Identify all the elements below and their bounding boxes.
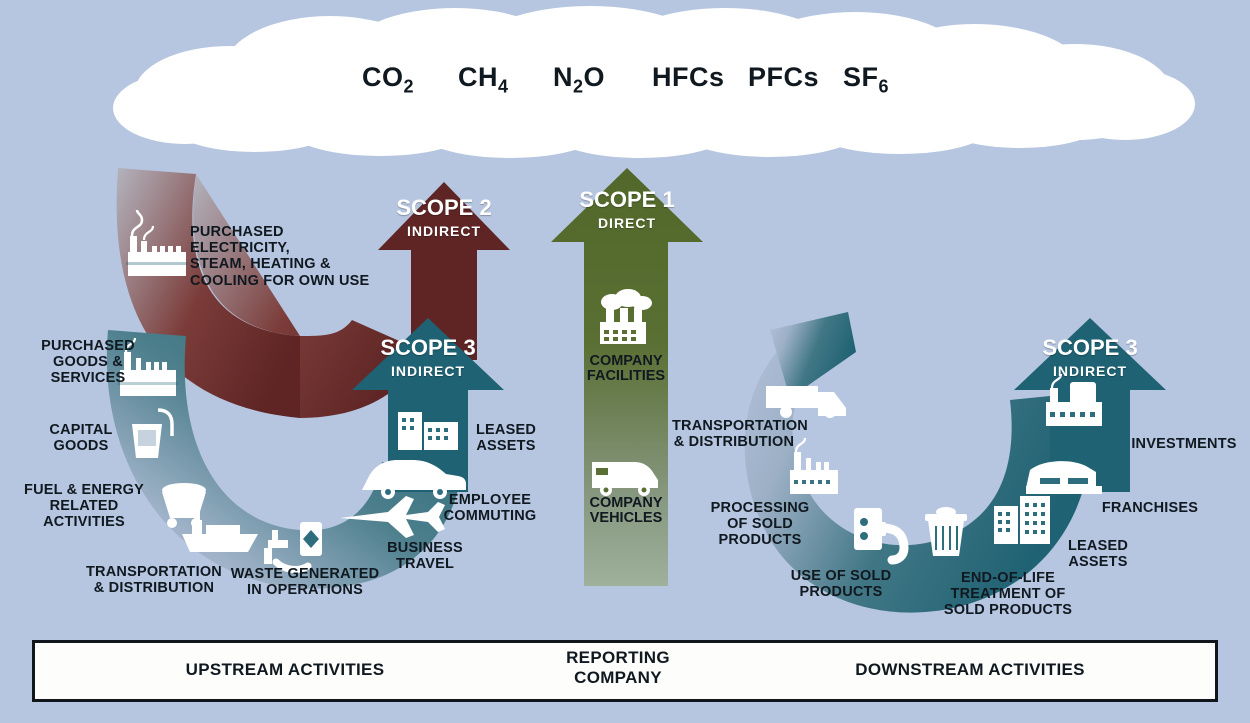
banner-reporting-company-label: REPORTING COMPANY (548, 648, 688, 689)
scope3-upstream-arrow-subtitle: INDIRECT (362, 364, 494, 379)
scope3-downstream-arrow-subtitle: INDIRECT (1024, 364, 1156, 379)
scope3-upstream-arrow-title: SCOPE 3 (362, 336, 494, 359)
processing-plant-icon (790, 438, 838, 494)
label-purchased-electricity: PURCHASED ELECTRICITY, STEAM, HEATING & … (190, 224, 405, 289)
scope2-arrow-title: SCOPE 2 (378, 196, 510, 219)
scope1-arrow-subtitle: DIRECT (561, 216, 693, 231)
gas-label-ch4: CH4 (458, 62, 509, 97)
scope1-arrow-title: SCOPE 1 (561, 188, 693, 211)
label-company-facilities: COMPANY FACILITIES (574, 354, 678, 384)
gas-label-n2o: N2O (553, 62, 605, 97)
label-franchises: FRANCHISES (1096, 500, 1204, 516)
gas-label-co2: CO2 (362, 62, 414, 97)
ghg-scopes-diagram: CO2 CH4 N2O HFCs PFCs SF6 SCOPE 2 INDIRE… (0, 0, 1250, 723)
gas-label-sf6: SF6 (843, 62, 889, 97)
label-investments: INVESTMENTS (1122, 436, 1246, 452)
label-use-of-sold-products: USE OF SOLD PRODUCTS (782, 568, 900, 600)
label-upstream-leased-assets: LEASED ASSETS (458, 422, 554, 454)
gas-label-hfcs: HFCs (652, 62, 725, 93)
banner-downstream-label: DOWNSTREAM ACTIVITIES (790, 660, 1150, 680)
banner-upstream-label: UPSTREAM ACTIVITIES (120, 660, 450, 680)
label-business-travel: BUSINESS TRAVEL (370, 540, 480, 572)
label-downstream-transportation: TRANSPORTATION & DISTRIBUTION (672, 418, 796, 450)
scope3-downstream-arrow-title: SCOPE 3 (1024, 336, 1156, 359)
label-purchased-goods-services: PURCHASED GOODS & SERVICES (24, 338, 152, 387)
label-employee-commuting: EMPLOYEE COMMUTING (430, 492, 550, 524)
label-capital-goods: CAPITAL GOODS (26, 422, 136, 454)
label-downstream-leased-assets: LEASED ASSETS (1050, 538, 1146, 570)
label-end-of-life-treatment: END-OF-LIFE TREATMENT OF SOLD PRODUCTS (938, 570, 1078, 619)
label-upstream-transportation: TRANSPORTATION & DISTRIBUTION (68, 564, 240, 596)
gas-label-pfcs: PFCs (748, 62, 819, 93)
label-fuel-energy-related: FUEL & ENERGY RELATED ACTIVITIES (14, 482, 154, 531)
label-waste-generated: WASTE GENERATED IN OPERATIONS (222, 566, 388, 598)
label-company-vehicles: COMPANY VEHICLES (574, 496, 678, 526)
label-processing-sold-products: PROCESSING OF SOLD PRODUCTS (708, 500, 812, 549)
